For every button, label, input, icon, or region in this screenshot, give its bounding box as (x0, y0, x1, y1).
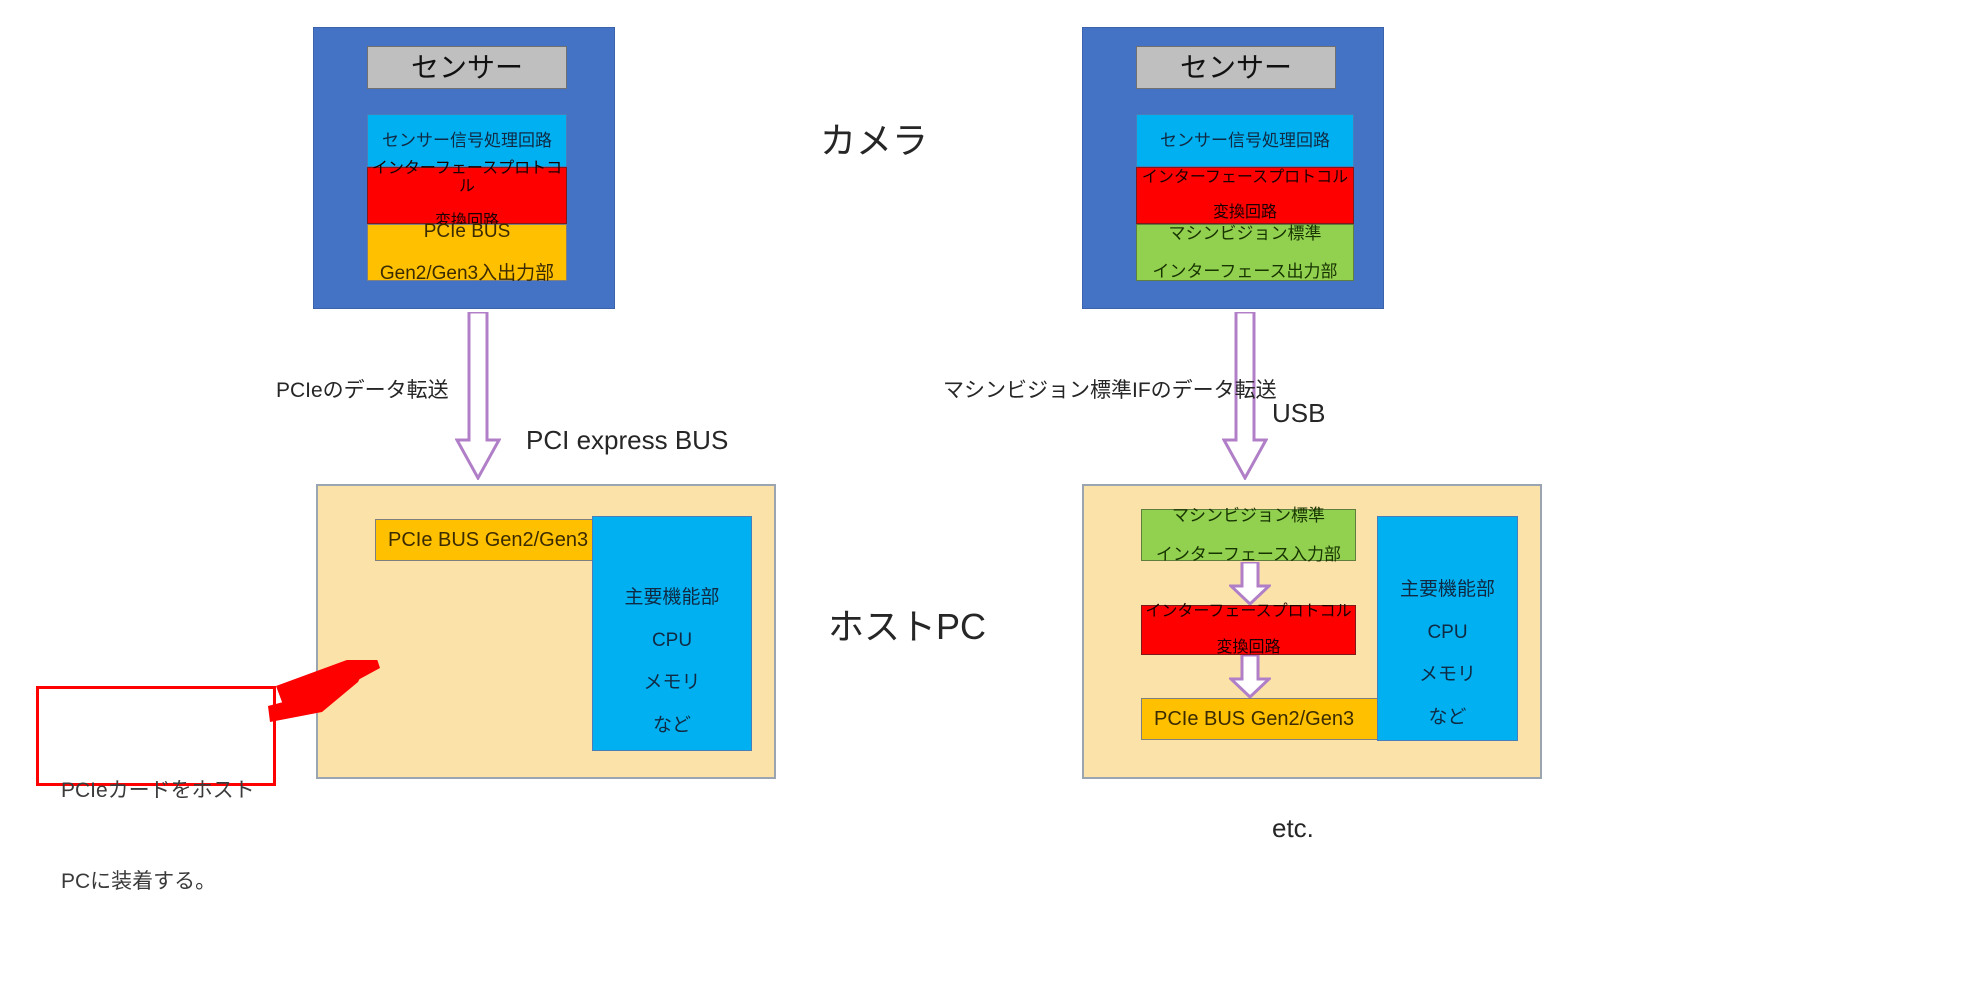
right-host-main-line4: など (1378, 707, 1517, 728)
left-host-pcie-bus-label: PCIe BUS Gen2/Gen3 (388, 529, 604, 551)
right-host-main-line3: メモリ (1378, 664, 1517, 685)
left-transfer-label: PCIeのデータ転送 (276, 374, 449, 404)
left-host-main-line4: など (593, 715, 751, 736)
right-host-mv-input-block: マシンビジョン標準 インターフェース入力部 (1141, 509, 1356, 561)
left-pcie-io-line2: Gen2/Gen3入出力部 (368, 263, 566, 284)
left-host-main-line1: 主要機能部 (593, 587, 751, 608)
right-host-arrow-2-icon (1229, 655, 1271, 699)
pcie-card-callout: PCIeカードをホスト PCに装着する。 (36, 686, 276, 786)
camera-title-label: カメラ (820, 112, 928, 164)
right-host-main-line1: 主要機能部 (1378, 579, 1517, 600)
left-host-pcie-bus-block: PCIe BUS Gen2/Gen3 (375, 519, 605, 561)
right-sensor-block: センサー (1136, 46, 1336, 89)
right-host-pcie-bus-label: PCIe BUS Gen2/Gen3 (1154, 708, 1385, 730)
right-camera-body: センサー センサー信号処理回路 インターフェースプロトコル 変換回路 マシンビジ… (1082, 27, 1384, 309)
right-host-mv-input-line1: マシンビジョン標準 (1142, 506, 1355, 525)
interface-list-item-0: USB (1272, 396, 1412, 431)
left-protocol-block: インターフェースプロトコル 変換回路 (367, 167, 567, 224)
right-mv-output-line1: マシンビジョン標準 (1137, 224, 1353, 243)
callout-pointer-icon (262, 660, 397, 770)
right-host-protocol-line1: インターフェースプロトコル (1142, 603, 1355, 621)
left-camera-body: センサー センサー信号処理回路 インターフェースプロトコル 変換回路 PCIe … (313, 27, 615, 309)
right-host-main-unit-block: 主要機能部 CPU メモリ など (1377, 516, 1518, 741)
right-host-pc-body: マシンビジョン標準 インターフェース入力部 インターフェースプロトコル 変換回路… (1082, 484, 1542, 779)
callout-line2: PCに装着する。 (61, 867, 255, 897)
right-sensor-label: センサー (1137, 52, 1335, 83)
right-host-arrow-1-icon (1229, 562, 1271, 606)
pcie-card-callout-text: PCIeカードをホスト PCに装着する。 (61, 715, 255, 959)
right-transfer-label: マシンビジョン標準IFのデータ転送 (943, 374, 1277, 404)
right-mv-output-block: マシンビジョン標準 インターフェース出力部 (1136, 224, 1354, 281)
right-protocol-line2: 変換回路 (1137, 204, 1353, 222)
right-signal-circuit-block: センサー信号処理回路 (1136, 114, 1354, 167)
left-host-main-line2: CPU (593, 630, 751, 651)
left-host-main-line3: メモリ (593, 672, 751, 693)
left-sensor-block: センサー (367, 46, 567, 89)
left-transfer-arrow-icon (455, 312, 501, 480)
right-host-pcie-bus-block: PCIe BUS Gen2/Gen3 (1141, 698, 1386, 740)
right-host-main-line2: CPU (1378, 622, 1517, 643)
interface-list-item-4: etc. (1272, 811, 1412, 846)
right-mv-output-line2: インターフェース出力部 (1137, 262, 1353, 281)
right-host-protocol-block: インターフェースプロトコル 変換回路 (1141, 605, 1356, 655)
left-host-main-unit-block: 主要機能部 CPU メモリ など (592, 516, 752, 751)
left-pcie-io-block: PCIe BUS Gen2/Gen3入出力部 (367, 224, 567, 281)
host-pc-title-label: ホストPC (828, 598, 986, 650)
left-sensor-label: センサー (368, 52, 566, 83)
callout-line1: PCIeカードをホスト (61, 776, 255, 806)
left-signal-circuit-label: センサー信号処理回路 (368, 131, 566, 150)
left-transfer-detail-line1: PCI express BUS (526, 423, 752, 458)
right-signal-circuit-label: センサー信号処理回路 (1137, 131, 1353, 150)
right-host-mv-input-line2: インターフェース入力部 (1142, 545, 1355, 564)
left-pcie-io-line1: PCIe BUS (368, 221, 566, 242)
right-protocol-line1: インターフェースプロトコル (1137, 169, 1353, 187)
left-protocol-line1: インターフェースプロトコル (368, 160, 566, 196)
right-protocol-block: インターフェースプロトコル 変換回路 (1136, 167, 1354, 224)
